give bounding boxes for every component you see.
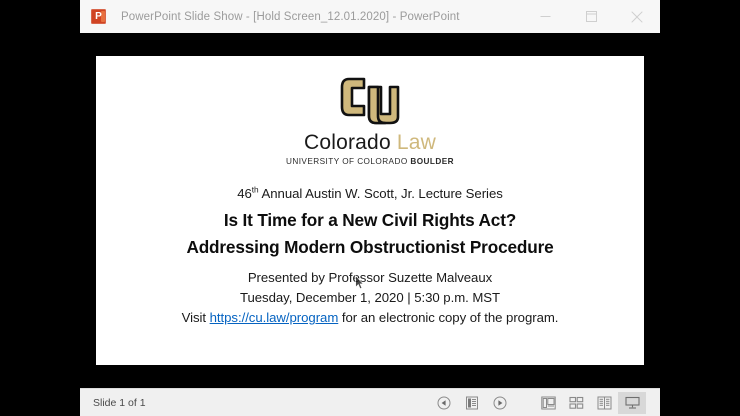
reading-view-icon	[597, 396, 612, 410]
close-button[interactable]	[614, 0, 660, 33]
minimize-icon	[540, 11, 551, 22]
wordmark-colorado: Colorado	[304, 131, 391, 154]
slide-sorter-button[interactable]	[562, 392, 590, 414]
powerpoint-icon-letter: P	[91, 9, 106, 24]
slide-show-icon	[625, 396, 640, 410]
series-ordinal-suffix: th	[252, 185, 259, 195]
title-bar[interactable]: P PowerPoint Slide Show - [Hold Screen_1…	[80, 0, 660, 34]
restore-button[interactable]	[568, 0, 614, 33]
slide-count-label: Slide 1 of 1	[93, 397, 146, 409]
next-slide-button[interactable]	[486, 392, 514, 414]
slide-stage[interactable]: Colorado Law UNIVERSITY OF COLORADO BOUL…	[80, 33, 660, 389]
slide-canvas[interactable]: Colorado Law UNIVERSITY OF COLORADO BOUL…	[96, 56, 644, 365]
tagline-prefix: UNIVERSITY OF COLORADO	[286, 157, 410, 166]
slide-title-line-1: Is It Time for a New Civil Rights Act?	[96, 210, 644, 231]
lecture-series-line: 46th Annual Austin W. Scott, Jr. Lecture…	[96, 186, 644, 201]
program-link[interactable]: https://cu.law/program	[210, 310, 339, 325]
cu-interlock-logo-icon	[339, 76, 401, 126]
notes-view-icon	[465, 396, 479, 410]
visit-suffix: for an electronic copy of the program.	[338, 310, 558, 325]
previous-slide-icon	[437, 396, 451, 410]
restore-icon	[586, 11, 597, 22]
previous-slide-button[interactable]	[430, 392, 458, 414]
series-name: Annual Austin W. Scott, Jr. Lecture Seri…	[259, 186, 503, 201]
next-slide-icon	[493, 396, 507, 410]
desktop-background: P PowerPoint Slide Show - [Hold Screen_1…	[0, 0, 740, 416]
colorado-law-logo: Colorado Law UNIVERSITY OF COLORADO BOUL…	[96, 76, 644, 166]
slide-title-line-2: Addressing Modern Obstructionist Procedu…	[96, 237, 644, 258]
slide-text-block: 46th Annual Austin W. Scott, Jr. Lecture…	[96, 186, 644, 325]
close-icon	[631, 11, 643, 23]
colorado-law-wordmark: Colorado Law	[96, 132, 644, 153]
view-button-group	[534, 392, 646, 414]
visit-prefix: Visit	[182, 310, 210, 325]
notes-view-button[interactable]	[458, 392, 486, 414]
window-controls	[522, 0, 660, 33]
window-title: PowerPoint Slide Show - [Hold Screen_12.…	[121, 11, 460, 23]
tagline-boulder: BOULDER	[410, 157, 454, 166]
series-number: 46	[237, 186, 252, 201]
wordmark-law: Law	[397, 131, 436, 154]
powerpoint-icon: P	[91, 9, 106, 24]
datetime-line: Tuesday, December 1, 2020 | 5:30 p.m. MS…	[96, 290, 644, 305]
minimize-button[interactable]	[522, 0, 568, 33]
logo-tagline: UNIVERSITY OF COLORADO BOULDER	[96, 158, 644, 166]
slide-show-button[interactable]	[618, 392, 646, 414]
program-link-line: Visit https://cu.law/program for an elec…	[96, 310, 644, 325]
reading-view-button[interactable]	[590, 392, 618, 414]
navigation-button-group	[430, 392, 660, 414]
powerpoint-window: P PowerPoint Slide Show - [Hold Screen_1…	[80, 0, 660, 416]
normal-view-icon	[541, 396, 556, 410]
presenter-line: Presented by Professor Suzette Malveaux	[96, 270, 644, 285]
status-bar: Slide 1 of 1	[80, 388, 660, 416]
slide-sorter-icon	[569, 396, 584, 410]
normal-view-button[interactable]	[534, 392, 562, 414]
